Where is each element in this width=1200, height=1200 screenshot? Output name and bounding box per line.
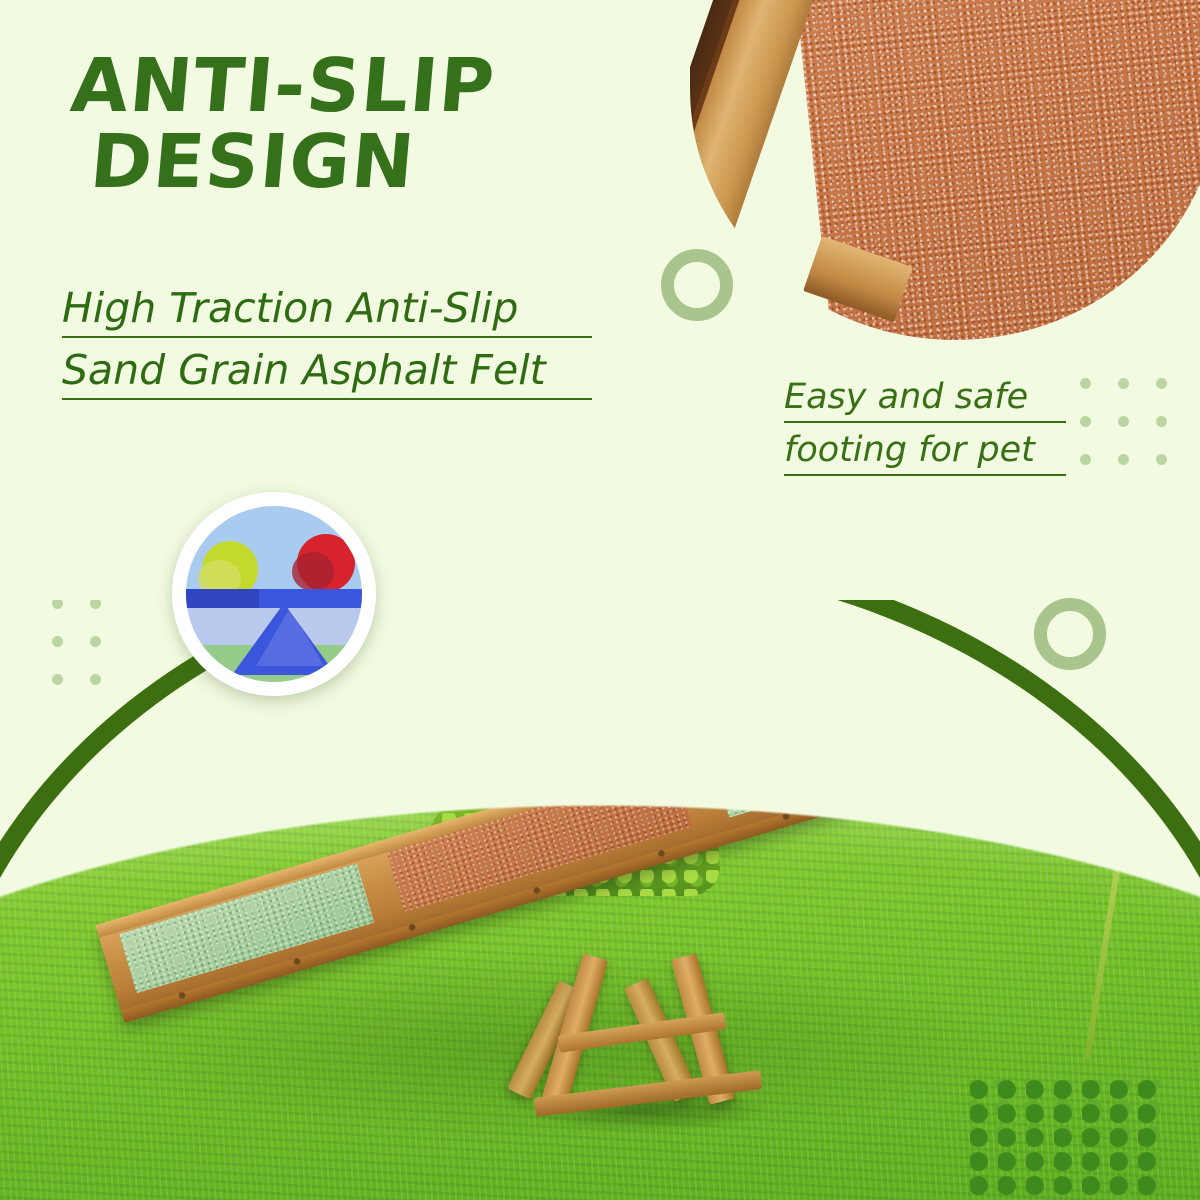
seesaw-fulcrum — [540, 938, 760, 1128]
feature-caption: Easy and safe footing for pet — [784, 380, 1066, 486]
pet-seesaw-product — [110, 750, 1040, 1130]
caption-line-2: footing for pet — [784, 433, 1066, 476]
badge-fulcrum-highlight — [256, 608, 324, 666]
dot — [1118, 454, 1129, 465]
headline-line-1: ANTI-SLIP — [68, 43, 499, 129]
poster-canvas: ANTI-SLIP DESIGN High Traction Anti-Slip… — [0, 0, 1200, 1200]
decorative-ring-bottom — [1034, 598, 1106, 670]
dot — [1156, 378, 1167, 389]
caption-line-1: Easy and safe — [784, 380, 1066, 423]
subheading-line-2: Sand Grain Asphalt Felt — [62, 350, 592, 400]
dot — [1156, 454, 1167, 465]
page-title: ANTI-SLIP DESIGN — [61, 48, 694, 200]
anti-slip-felt-closeup-photo — [690, 0, 1200, 340]
subheading-line-1: High Traction Anti-Slip — [62, 288, 592, 338]
decorative-ring-top — [661, 249, 733, 321]
pet-seesaw-garden-photo — [0, 560, 1200, 1200]
dot — [1080, 378, 1091, 389]
dot — [1118, 416, 1129, 427]
badge-plank — [186, 589, 362, 608]
badge-ball-right — [297, 534, 355, 592]
seesaw-balance-icon — [172, 492, 376, 696]
dot — [1156, 416, 1167, 427]
badge-disc — [186, 506, 362, 682]
dot — [1118, 378, 1129, 389]
dot — [1080, 416, 1091, 427]
headline-line-2: DESIGN — [87, 124, 688, 200]
subheading: High Traction Anti-Slip Sand Grain Aspha… — [62, 288, 592, 412]
dot — [1080, 454, 1091, 465]
